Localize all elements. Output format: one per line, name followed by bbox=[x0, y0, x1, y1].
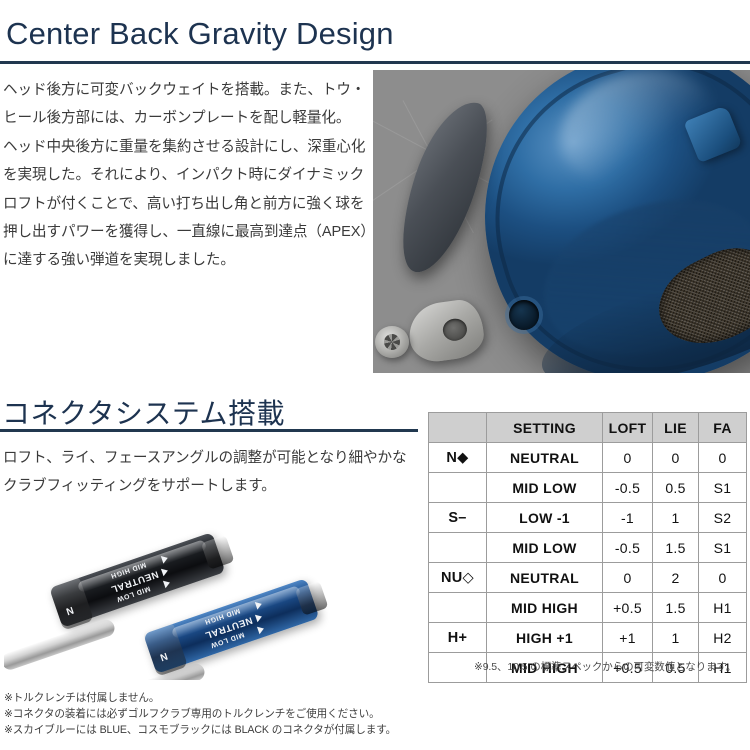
cell-loft: -0.5 bbox=[603, 533, 653, 563]
footnote-line: ※コネクタの装着には必ずゴルフクラブ専用のトルクレンチをご使用ください。 bbox=[4, 706, 396, 722]
table-head: SETTING LOFT LIE FA bbox=[429, 413, 747, 443]
connector-sleeve-blue: MID HIGH NEUTRAL MID LOW N bbox=[143, 578, 319, 674]
section-2-body: ロフト、ライ、フェースアングルの調整が可能となり細やかな クラブフィッティングを… bbox=[3, 444, 403, 501]
cell-setting: MID LOW bbox=[487, 473, 603, 503]
cell-fa: 0 bbox=[699, 563, 747, 593]
cell-setting: HIGH +1 bbox=[487, 623, 603, 653]
cell-loft: -0.5 bbox=[603, 473, 653, 503]
column-header-setting: SETTING bbox=[487, 413, 603, 443]
column-header-lie: LIE bbox=[653, 413, 699, 443]
weight-screw bbox=[375, 326, 409, 358]
column-header-loft: LOFT bbox=[603, 413, 653, 443]
cell-lie: 0.5 bbox=[653, 473, 699, 503]
weight-bore bbox=[441, 317, 468, 342]
triangle-marker-icon bbox=[257, 625, 265, 635]
cell-lie: 1 bbox=[653, 503, 699, 533]
body-line: 押し出すパワーを獲得し、一直線に最高到達点（APEX） bbox=[3, 218, 367, 246]
cell-fa: 0 bbox=[699, 443, 747, 473]
triangle-marker-icon bbox=[163, 579, 171, 589]
table-row: MID HIGH+0.51.5H1 bbox=[429, 593, 747, 623]
cell-fa: S2 bbox=[699, 503, 747, 533]
body-line: ヒール後方部には、カーボンプレートを配し軽量化。 bbox=[3, 104, 367, 132]
table-row: MID LOW-0.50.5S1 bbox=[429, 473, 747, 503]
cell-fa: H2 bbox=[699, 623, 747, 653]
cell-code: NU◇ bbox=[429, 563, 487, 593]
section-1-body: ヘッド後方に可変バックウェイトを搭載。また、トウ・ ヒール後方部には、カーボンプ… bbox=[3, 76, 367, 275]
table-footnote: ※9.5、10.5 の標準スペックからの可変数値となります。 bbox=[474, 659, 736, 674]
section-2-divider bbox=[0, 429, 418, 432]
cell-code bbox=[429, 533, 487, 563]
body-line: ロフト、ライ、フェースアングルの調整が可能となり細やかな bbox=[3, 444, 403, 472]
cell-lie: 1 bbox=[653, 623, 699, 653]
cell-lie: 1.5 bbox=[653, 533, 699, 563]
body-line: ロフトが付くことで、高い打ち出し角と前方に強く球を bbox=[3, 190, 367, 218]
cell-code: S– bbox=[429, 503, 487, 533]
column-header-fa: FA bbox=[699, 413, 747, 443]
cell-lie: 2 bbox=[653, 563, 699, 593]
cell-loft: +1 bbox=[603, 623, 653, 653]
table-row: N◆NEUTRAL000 bbox=[429, 443, 747, 473]
cell-setting: LOW -1 bbox=[487, 503, 603, 533]
cell-fa: S1 bbox=[699, 533, 747, 563]
cell-setting: NEUTRAL bbox=[487, 563, 603, 593]
footnote-line: ※トルクレンチは付属しません。 bbox=[4, 690, 396, 706]
cell-code: N◆ bbox=[429, 443, 487, 473]
triangle-marker-icon bbox=[255, 613, 263, 623]
connector-sleeves-image: MID HIGH NEUTRAL MID LOW N MID HIGH NEUT… bbox=[4, 505, 414, 680]
triangle-marker-icon bbox=[161, 567, 169, 577]
sleeve-tip bbox=[295, 581, 329, 616]
table-row: H+HIGH +1+11H2 bbox=[429, 623, 747, 653]
body-line: クラブフィッティングをサポートします。 bbox=[3, 472, 403, 500]
page-footnotes: ※トルクレンチは付属しません。 ※コネクタの装着には必ずゴルフクラブ専用のトルク… bbox=[4, 690, 396, 738]
body-line: を実現した。それにより、インパクト時にダイナミック bbox=[3, 161, 367, 189]
sleeve-tip bbox=[201, 535, 235, 570]
cell-code bbox=[429, 593, 487, 623]
body-line: に達する強い弾道を実現しました。 bbox=[3, 246, 367, 274]
weight-port bbox=[509, 300, 539, 330]
footnote-line: ※スカイブルーには BLUE、コスモブラックには BLACK のコネクタが付属し… bbox=[4, 722, 396, 738]
body-line: ヘッド後方に可変バックウェイトを搭載。また、トウ・ bbox=[3, 76, 367, 104]
body-line: ヘッド中央後方に重量を集約させる設計にし、深重心化 bbox=[3, 133, 367, 161]
cell-setting: MID LOW bbox=[487, 533, 603, 563]
table-row: MID LOW-0.51.5S1 bbox=[429, 533, 747, 563]
cell-fa: S1 bbox=[699, 473, 747, 503]
cell-fa: H1 bbox=[699, 593, 747, 623]
connector-setting-table: SETTING LOFT LIE FA N◆NEUTRAL000MID LOW-… bbox=[428, 412, 747, 683]
section-2-heading: コネクタシステム搭載 bbox=[2, 392, 285, 432]
cell-code bbox=[429, 473, 487, 503]
cell-lie: 0 bbox=[653, 443, 699, 473]
cell-setting: NEUTRAL bbox=[487, 443, 603, 473]
column-header-code bbox=[429, 413, 487, 443]
shaft-black bbox=[4, 617, 117, 671]
cell-loft: -1 bbox=[603, 503, 653, 533]
table-header-row: SETTING LOFT LIE FA bbox=[429, 413, 747, 443]
shaft-blue bbox=[82, 661, 207, 680]
product-feature-page: Center Back Gravity Design ヘッド後方に可変バックウェ… bbox=[0, 0, 750, 750]
table-row: NU◇NEUTRAL020 bbox=[429, 563, 747, 593]
cell-lie: 1.5 bbox=[653, 593, 699, 623]
driver-head-image bbox=[373, 70, 750, 373]
table-row: S–LOW -1-11S2 bbox=[429, 503, 747, 533]
section-1-divider bbox=[0, 61, 750, 64]
connector-sleeve-black: MID HIGH NEUTRAL MID LOW N bbox=[49, 532, 225, 628]
cell-loft: 0 bbox=[603, 443, 653, 473]
section-1-heading: Center Back Gravity Design bbox=[6, 16, 394, 52]
cell-loft: 0 bbox=[603, 563, 653, 593]
cell-code: H+ bbox=[429, 623, 487, 653]
cell-setting: MID HIGH bbox=[487, 593, 603, 623]
cell-loft: +0.5 bbox=[603, 593, 653, 623]
table-body: N◆NEUTRAL000MID LOW-0.50.5S1S–LOW -1-11S… bbox=[429, 443, 747, 683]
